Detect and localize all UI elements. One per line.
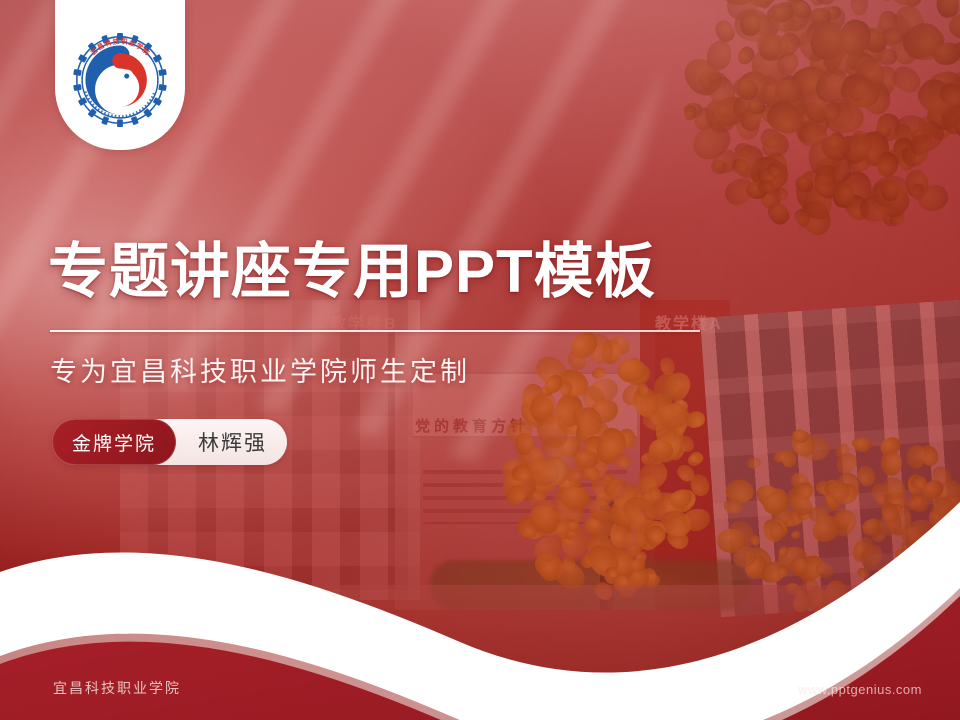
school-logo-tab: 宜 昌 科 技 职 业 学 院	[55, 0, 185, 150]
presenter-badge-label: 金牌学院	[52, 419, 176, 465]
title-divider	[50, 330, 700, 332]
footer-website[interactable]: www.pptgenius.com	[798, 682, 922, 697]
footer-institution: 宜昌科技职业学院	[53, 678, 181, 698]
page-title: 专题讲座专用PPT模板	[48, 238, 656, 305]
page-subtitle: 专为宜昌科技职业学院师生定制	[50, 350, 470, 389]
presenter-name: 林辉强	[176, 427, 267, 457]
school-emblem-icon: 宜 昌 科 技 职 业 学 院	[72, 32, 168, 128]
presentation-slide: 党的教育方针 教学楼B 教学楼A	[0, 0, 960, 720]
presenter-pill: 金牌学院 林辉强	[52, 419, 287, 465]
